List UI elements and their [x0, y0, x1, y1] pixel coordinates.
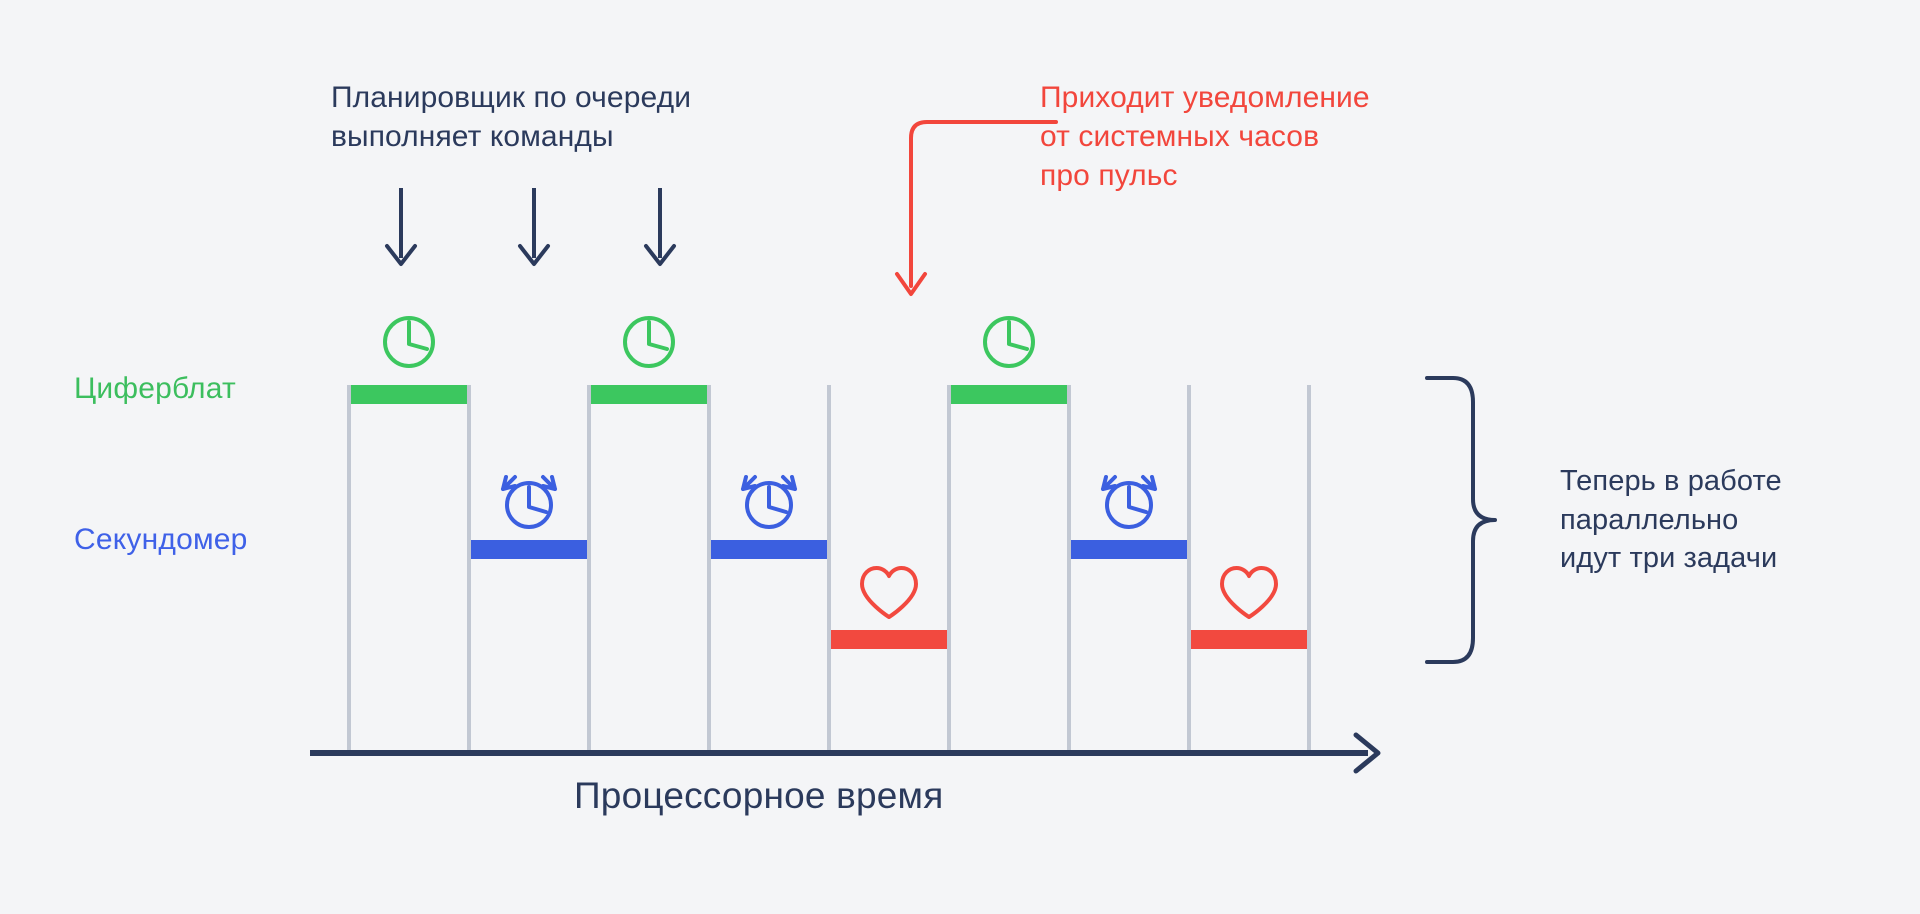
timeline-chart	[0, 0, 1920, 914]
clock-icon	[381, 314, 437, 370]
time-axis-line	[310, 750, 1368, 756]
column-divider	[1067, 385, 1071, 753]
task-bar-pulse	[831, 630, 947, 649]
task-bar-stopwatch	[1071, 540, 1187, 559]
column-divider	[1187, 385, 1191, 753]
diagram-canvas: Планировщик по очереди выполняет команды…	[0, 0, 1920, 914]
clock-icon	[621, 314, 677, 370]
task-bar-pulse	[1191, 630, 1307, 649]
arrow-right-icon	[1352, 731, 1392, 775]
task-bar-clockface	[951, 385, 1067, 404]
column-divider	[467, 385, 471, 753]
task-bar-clockface	[591, 385, 707, 404]
task-bar-stopwatch	[471, 540, 587, 559]
alarm-clock-icon	[499, 467, 559, 531]
column-divider	[587, 385, 591, 753]
column-divider	[1307, 385, 1311, 753]
column-divider	[347, 385, 351, 753]
column-divider	[827, 385, 831, 753]
task-bar-stopwatch	[711, 540, 827, 559]
task-bar-clockface	[351, 385, 467, 404]
heart-icon	[1218, 565, 1280, 621]
column-divider	[947, 385, 951, 753]
alarm-clock-icon	[1099, 467, 1159, 531]
clock-icon	[981, 314, 1037, 370]
column-divider	[707, 385, 711, 753]
heart-icon	[858, 565, 920, 621]
alarm-clock-icon	[739, 467, 799, 531]
